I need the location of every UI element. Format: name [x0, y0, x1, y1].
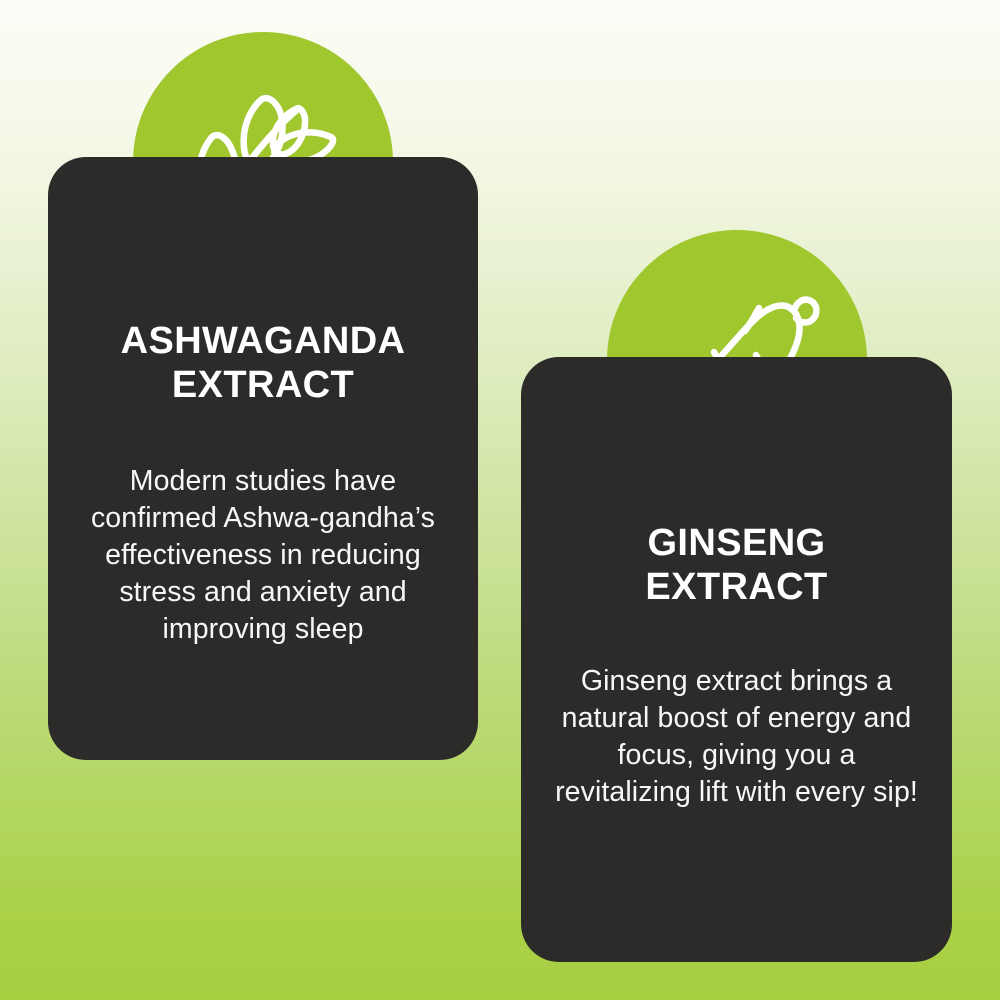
ginseng-card-title: GINSENG EXTRACT	[645, 521, 827, 609]
ginseng-card-body: Ginseng extract brings a natural boost o…	[547, 663, 927, 811]
ashwaganda-card-body: Modern studies have confirmed Ashwa-gand…	[83, 463, 443, 648]
ashwaganda-card-title: ASHWAGANDA EXTRACT	[121, 319, 406, 407]
ashwaganda-card: ASHWAGANDA EXTRACT Modern studies have c…	[48, 157, 478, 760]
ingredient-benefits-poster: ASHWAGANDA EXTRACT Modern studies have c…	[0, 0, 1000, 1000]
ginseng-card: GINSENG EXTRACT Ginseng extract brings a…	[521, 357, 952, 962]
